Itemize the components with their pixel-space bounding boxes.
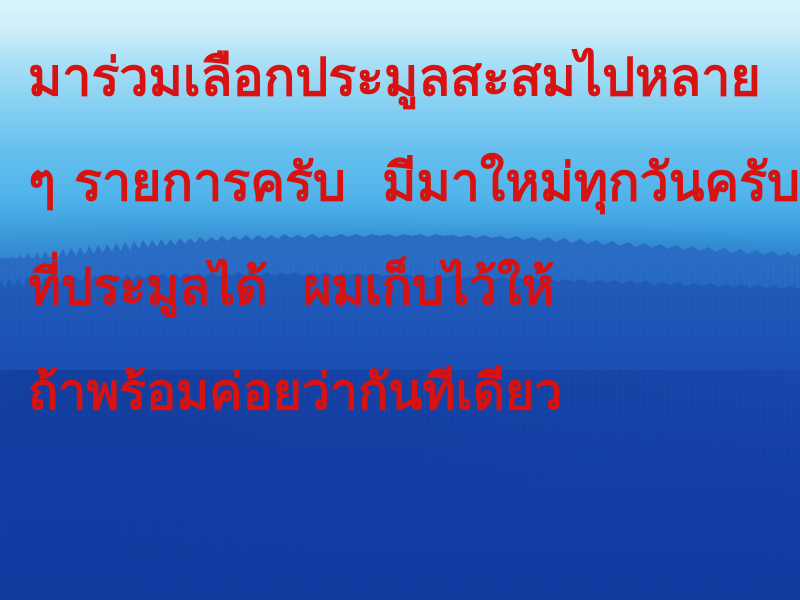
overlay-text-line-4: ถ้าพร้อมค่อยว่ากันทีเดียว bbox=[28, 367, 562, 417]
overlay-text-line-1: มาร่วมเลือกประมูลสะสมไปหลาย bbox=[28, 52, 761, 104]
overlay-text-line-3: ที่ประมูลได้ ผมเก็บไว้ให้ bbox=[28, 262, 554, 312]
overlay-text-block: มาร่วมเลือกประมูลสะสมไปหลาย ๆ รายการครับ… bbox=[0, 0, 800, 600]
overlay-text-line-2: ๆ รายการครับ มีมาใหม่ทุกวันครับ bbox=[28, 157, 800, 209]
banner-image: มาร่วมเลือกประมูลสะสมไปหลาย ๆ รายการครับ… bbox=[0, 0, 800, 600]
